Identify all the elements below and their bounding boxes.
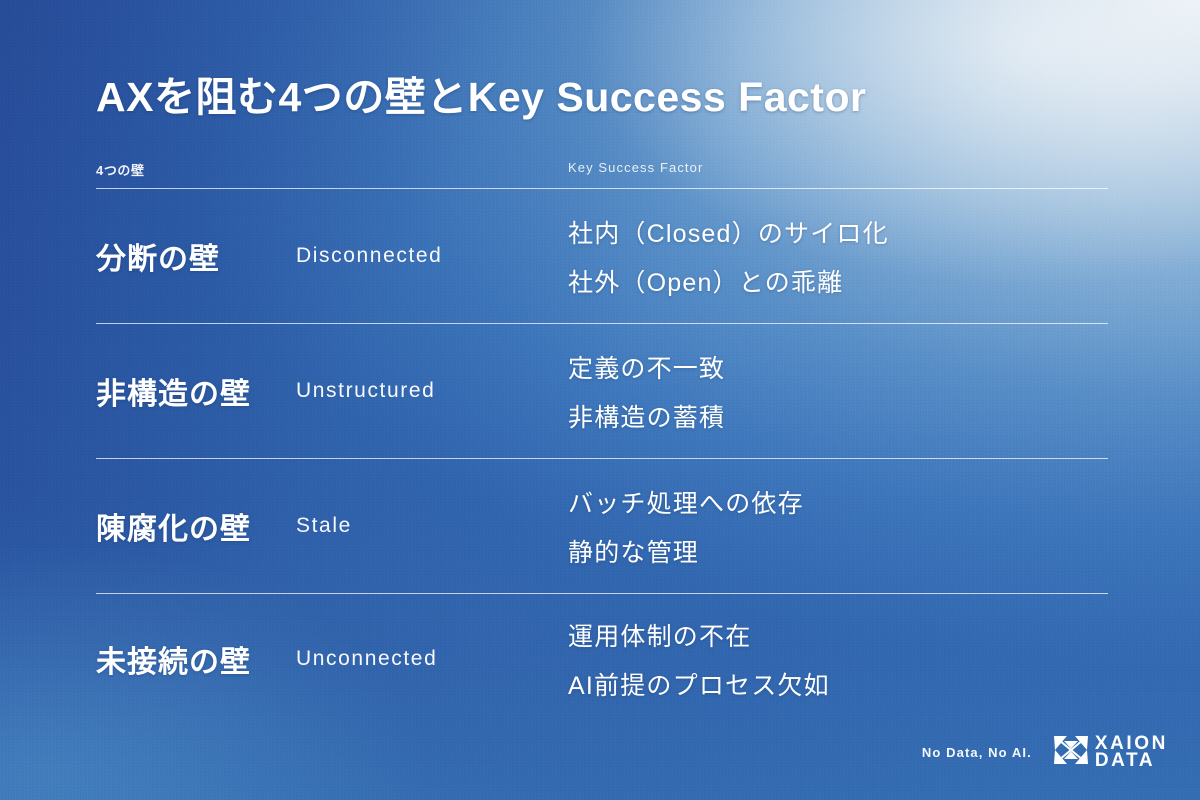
table-row: 陳腐化の壁 Stale バッチ処理への依存 静的な管理 <box>96 459 1108 593</box>
wall-name-jp: 非構造の壁 <box>96 369 296 413</box>
wall-name-en: Stale <box>296 514 568 538</box>
ksf-item: 定義の不一致 <box>568 349 1108 385</box>
xaion-data-logo: XAION DATA <box>1054 735 1168 770</box>
table-row: 非構造の壁 Unstructured 定義の不一致 非構造の蓄積 <box>96 324 1108 458</box>
ksf-list: 社内（Closed）のサイロ化 社外（Open）との乖離 <box>568 214 1108 299</box>
footer-tagline: No Data, No AI. <box>922 745 1032 760</box>
xaion-data-wordmark: XAION DATA <box>1095 736 1168 769</box>
wall-name-en: Disconnected <box>296 244 568 268</box>
xaion-x-mark-icon <box>1054 735 1088 770</box>
ksf-list: 運用体制の不在 AI前提のプロセス欠如 <box>568 617 1108 702</box>
slide-footer: No Data, No AI. <box>922 735 1168 770</box>
column-header-ksf: Key Success Factor <box>568 160 703 175</box>
table-row: 分断の壁 Disconnected 社内（Closed）のサイロ化 社外（Ope… <box>96 189 1108 323</box>
ksf-item: 社外（Open）との乖離 <box>568 263 1108 299</box>
slide-content: AXを阻む4つの壁とKey Success Factor 4つの壁 Key Su… <box>0 0 1200 800</box>
table-row: 未接続の壁 Unconnected 運用体制の不在 AI前提のプロセス欠如 <box>96 594 1108 724</box>
ksf-item: 社内（Closed）のサイロ化 <box>568 214 1108 250</box>
ksf-item: AI前提のプロセス欠如 <box>568 666 1108 702</box>
slide-canvas: AXを阻む4つの壁とKey Success Factor 4つの壁 Key Su… <box>0 0 1200 800</box>
walls-ksf-table: 分断の壁 Disconnected 社内（Closed）のサイロ化 社外（Ope… <box>96 188 1108 724</box>
ksf-list: バッチ処理への依存 静的な管理 <box>568 484 1108 569</box>
wall-name-jp: 陳腐化の壁 <box>96 504 296 548</box>
ksf-item: 運用体制の不在 <box>568 617 1108 653</box>
wall-name-jp: 未接続の壁 <box>96 637 296 681</box>
wall-name-en: Unstructured <box>296 379 568 403</box>
logo-line-data: DATA <box>1095 753 1168 770</box>
wall-name-en: Unconnected <box>296 647 568 671</box>
ksf-list: 定義の不一致 非構造の蓄積 <box>568 349 1108 434</box>
wall-name-jp: 分断の壁 <box>96 234 296 278</box>
ksf-item: バッチ処理への依存 <box>568 484 1108 520</box>
ksf-item: 非構造の蓄積 <box>568 398 1108 434</box>
ksf-item: 静的な管理 <box>568 533 1108 569</box>
column-header-walls: 4つの壁 <box>96 160 145 179</box>
slide-title: AXを阻む4つの壁とKey Success Factor <box>96 63 866 123</box>
